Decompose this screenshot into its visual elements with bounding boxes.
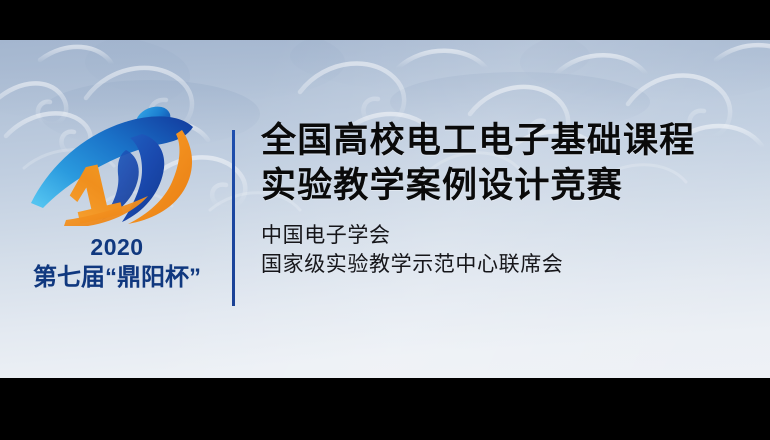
organizer-list: 中国电子学会 国家级实验教学示范中心联席会 bbox=[261, 221, 761, 279]
top-letterbox-bar bbox=[0, 0, 770, 40]
logo-caption: 2020 第七届“鼎阳杯” bbox=[14, 234, 220, 293]
competition-banner: 2020 第七届“鼎阳杯” 全国高校电工电子基础课程 实验教学案例设计竞赛 中国… bbox=[0, 0, 770, 440]
organizer-item: 国家级实验教学示范中心联席会 bbox=[261, 250, 761, 279]
banner-canvas: 2020 第七届“鼎阳杯” 全国高校电工电子基础课程 实验教学案例设计竞赛 中国… bbox=[0, 40, 770, 378]
vertical-divider bbox=[232, 130, 235, 306]
bottom-letterbox-bar bbox=[0, 378, 770, 440]
running-figure-circuit-logo-icon bbox=[30, 104, 204, 226]
title-line-1: 全国高校电工电子基础课程 bbox=[261, 118, 761, 163]
logo-year: 2020 bbox=[14, 234, 220, 261]
logo-block: 2020 第七届“鼎阳杯” bbox=[14, 44, 220, 334]
logo-edition: 第七届“鼎阳杯” bbox=[14, 263, 220, 293]
title-block: 全国高校电工电子基础课程 实验教学案例设计竞赛 中国电子学会 国家级实验教学示范… bbox=[261, 118, 761, 279]
title-line-2: 实验教学案例设计竞赛 bbox=[261, 163, 761, 208]
organizer-item: 中国电子学会 bbox=[261, 221, 761, 250]
